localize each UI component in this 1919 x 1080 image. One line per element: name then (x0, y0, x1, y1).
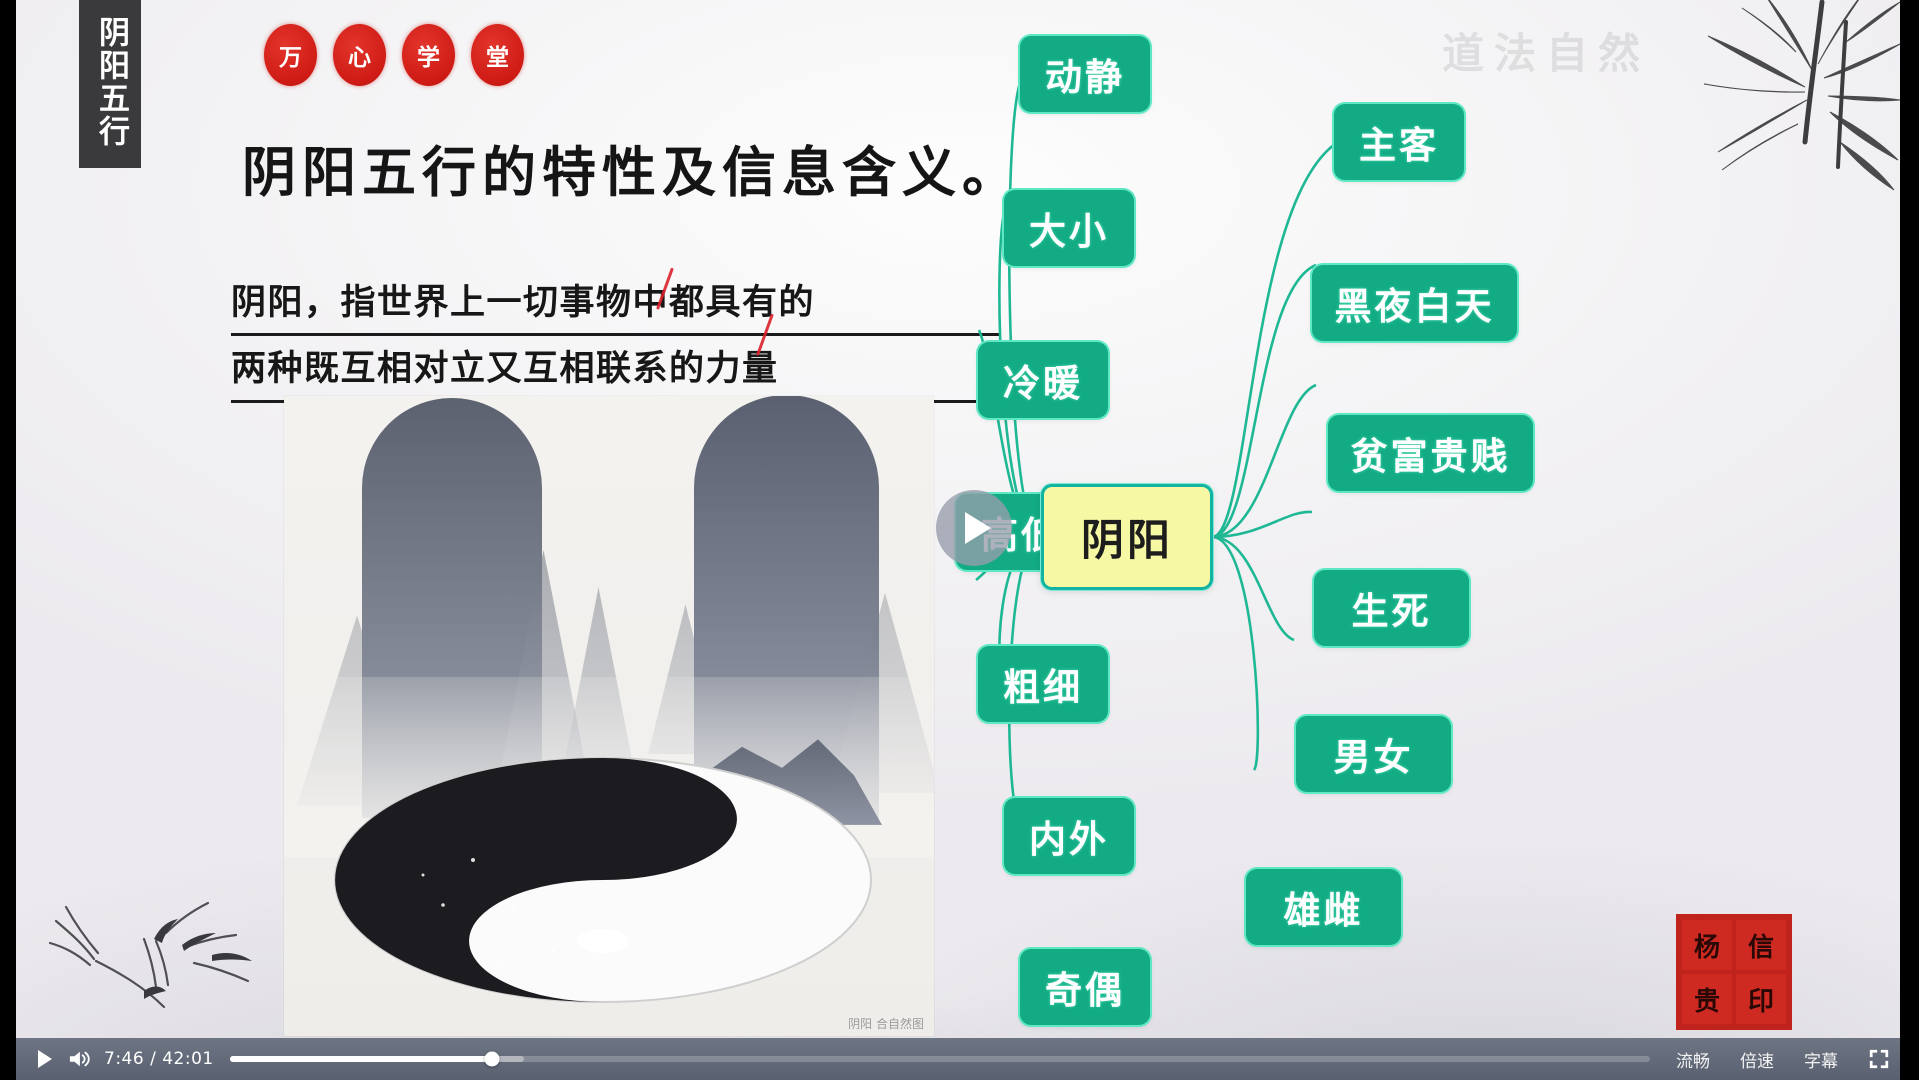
mindmap-node-shengsi[interactable]: 生死 (1314, 570, 1469, 646)
right-controls: 流畅 倍速 字幕 (1676, 1047, 1890, 1072)
brand-logo: 万 心 学 堂 (264, 24, 524, 86)
bamboo-ink-illustration (1600, 0, 1900, 217)
center-play-button[interactable] (936, 490, 1012, 566)
subtitle-button[interactable]: 字幕 (1804, 1047, 1838, 1072)
fullscreen-icon[interactable] (1868, 1048, 1890, 1070)
seek-bar[interactable] (230, 1056, 1650, 1062)
body-line: 两种既互相对立又互相联系的力量 (231, 342, 1001, 402)
yin-yang-landscape-illustration: 阴阳 合自然图 (284, 396, 934, 1036)
video-player: 道法自然 (0, 0, 1919, 1080)
player-control-bar: 7:46 / 42:01 流畅 倍速 字幕 (16, 1038, 1900, 1080)
mindmap-node-pinfuguijian[interactable]: 贫富贵贱 (1328, 415, 1533, 491)
artist-seal-stamp: 杨 信 贵 印 (1678, 916, 1790, 1028)
slide-body-text: 阴阳，指世界上一切事物中都具有的 两种既互相对立又互相联系的力量 (231, 276, 1001, 403)
mindmap-center-node[interactable]: 阴阳 (1041, 484, 1213, 590)
seek-handle[interactable] (485, 1052, 500, 1067)
taiji-symbol (323, 710, 883, 1010)
current-time: 7:46 (104, 1049, 144, 1069)
mindmap-node-lengnuan[interactable]: 冷暖 (978, 342, 1108, 418)
chapter-tab-label: 阴阳五行 (92, 16, 128, 148)
time-separator: / (150, 1049, 156, 1069)
brand-seal: 学 (402, 24, 455, 86)
seal-char: 信 (1736, 920, 1786, 970)
brand-seal: 万 (264, 24, 317, 86)
mindmap-node-zhuke[interactable]: 主客 (1334, 104, 1464, 180)
mindmap-node-xiongci[interactable]: 雄雌 (1246, 869, 1401, 945)
mindmap-node-daxiao[interactable]: 大小 (1004, 190, 1134, 266)
seal-char: 印 (1736, 974, 1786, 1024)
mindmap-node-neiwai[interactable]: 内外 (1004, 798, 1134, 874)
playback-speed-button[interactable]: 倍速 (1740, 1047, 1774, 1072)
mindmap-node-jiou[interactable]: 奇偶 (1020, 949, 1150, 1025)
brand-seal: 心 (333, 24, 386, 86)
video-frame[interactable]: 道法自然 (16, 0, 1900, 1048)
birds-ink-illustration (36, 881, 276, 1016)
volume-icon (68, 1049, 90, 1069)
chapter-tab: 阴阳五行 (79, 0, 141, 168)
mindmap-node-nannv[interactable]: 男女 (1296, 716, 1451, 792)
play-icon (38, 1050, 52, 1068)
volume-button[interactable] (62, 1042, 96, 1076)
mindmap-node-dongjing[interactable]: 动静 (1020, 36, 1150, 112)
time-display: 7:46 / 42:01 (104, 1049, 214, 1069)
played-range (230, 1056, 493, 1062)
illustration-signature: 阴阳 合自然图 (848, 1015, 924, 1032)
play-pause-button[interactable] (28, 1042, 62, 1076)
seal-char: 贵 (1682, 974, 1732, 1024)
slide-headline: 阴阳五行的特性及信息含义。 (242, 128, 1022, 207)
mindmap-node-heiyebaitian[interactable]: 黑夜白天 (1312, 265, 1517, 341)
play-icon (965, 512, 991, 544)
seal-char: 杨 (1682, 920, 1732, 970)
quality-button[interactable]: 流畅 (1676, 1047, 1710, 1072)
body-line: 阴阳，指世界上一切事物中都具有的 (231, 276, 1001, 336)
brand-seal: 堂 (471, 24, 524, 86)
mindmap-node-cuxi[interactable]: 粗细 (978, 646, 1108, 722)
duration: 42:01 (162, 1049, 214, 1069)
